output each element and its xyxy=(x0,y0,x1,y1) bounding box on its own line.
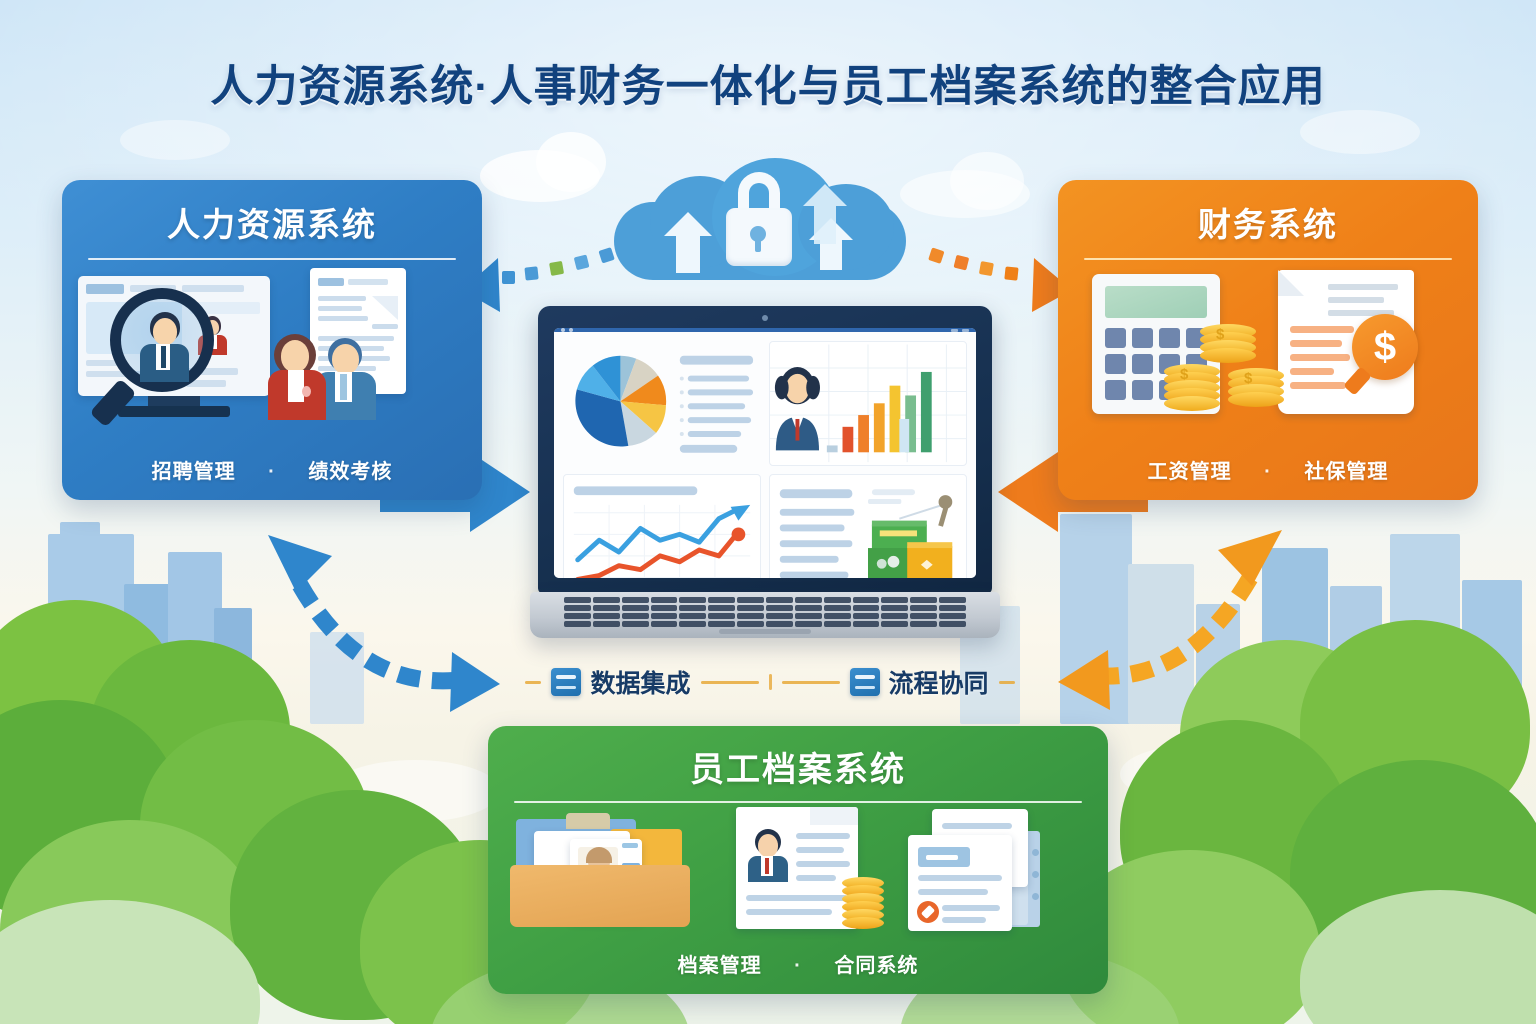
line-chart-widget[interactable] xyxy=(563,474,761,578)
laptop-screen xyxy=(554,328,976,578)
panel-hr-illustration xyxy=(62,260,482,449)
employee-record-icon xyxy=(736,807,886,937)
laptop-dashboard[interactable] xyxy=(530,306,1000,656)
magnifier-icon xyxy=(104,288,234,428)
folder-id-card-icon xyxy=(510,813,700,933)
panel-archive-illustration xyxy=(488,803,1108,943)
dollar-magnifier-icon: $ xyxy=(1350,314,1426,398)
laptop-lid xyxy=(538,306,992,594)
label-dash-mid-right xyxy=(782,681,840,684)
center-label-text: 数据集成 xyxy=(590,664,690,700)
label-dash-mid-left xyxy=(701,681,759,684)
panel-finance-heading: 财务系统 xyxy=(1058,180,1478,246)
staff-pair-icon xyxy=(268,324,398,420)
panel-finance-footer-right: 社保管理 xyxy=(1304,461,1388,483)
data-share-icon xyxy=(850,668,880,696)
page-title: 人力资源系统·人事财务一体化与员工档案系统的整合应用 xyxy=(0,52,1536,114)
lock-icon xyxy=(724,172,794,266)
records-widget[interactable] xyxy=(769,474,967,578)
coin-stack-icon: $ $ $ xyxy=(1164,324,1304,420)
employee-avatar-icon xyxy=(775,367,820,450)
panel-archive-footer-left: 档案管理 xyxy=(678,955,762,977)
panel-finance-footer-left: 工资管理 xyxy=(1148,461,1232,483)
infographic-canvas: 人力资源系统·人事财务一体化与员工档案系统的整合应用 人力资源系统 xyxy=(0,0,1536,1024)
trackpad xyxy=(719,629,811,634)
panel-hr-heading: 人力资源系统 xyxy=(62,180,482,246)
secure-cloud-icon xyxy=(600,158,920,286)
label-dash-left xyxy=(525,681,541,684)
center-label-text: 流程协同 xyxy=(889,664,989,700)
panel-archive-system[interactable]: 员工档案系统 xyxy=(488,726,1108,994)
panel-archive-footer-sep: · xyxy=(794,955,802,978)
panel-hr-footer-right: 绩效考核 xyxy=(308,461,392,483)
laptop-base xyxy=(530,592,1000,638)
panel-finance-footer: 工资管理 · 社保管理 xyxy=(1058,449,1478,500)
panel-finance-system[interactable]: 财务系统 xyxy=(1058,180,1478,500)
coin-stack-icon xyxy=(842,877,886,933)
panel-hr-system[interactable]: 人力资源系统 xyxy=(62,180,482,500)
label-dash-right xyxy=(999,681,1015,684)
panel-archive-heading: 员工档案系统 xyxy=(488,726,1108,791)
bar-chart-widget[interactable] xyxy=(769,341,967,466)
pie-chart-widget[interactable] xyxy=(563,341,761,466)
panel-finance-footer-sep: · xyxy=(1264,461,1272,484)
panel-finance-illustration: $ $ $ $ xyxy=(1058,260,1478,449)
center-label-process-collab[interactable]: 流程协同 xyxy=(850,664,989,700)
label-separator xyxy=(769,674,772,690)
center-label-data-integration[interactable]: 数据集成 xyxy=(551,664,690,700)
panel-hr-footer: 招聘管理 · 绩效考核 xyxy=(62,449,482,500)
center-label-row: 数据集成 流程协同 xyxy=(470,658,1070,706)
panel-hr-footer-left: 招聘管理 xyxy=(152,461,236,483)
panel-archive-footer: 档案管理 · 合同系统 xyxy=(488,943,1108,994)
webcam-icon xyxy=(762,315,768,321)
data-sync-icon xyxy=(551,668,581,696)
dashboard-grid xyxy=(554,332,976,578)
keyboard xyxy=(564,597,966,627)
panel-hr-footer-sep: · xyxy=(268,461,276,484)
document-stack-icon xyxy=(908,809,1056,935)
panel-archive-footer-right: 合同系统 xyxy=(834,955,918,977)
